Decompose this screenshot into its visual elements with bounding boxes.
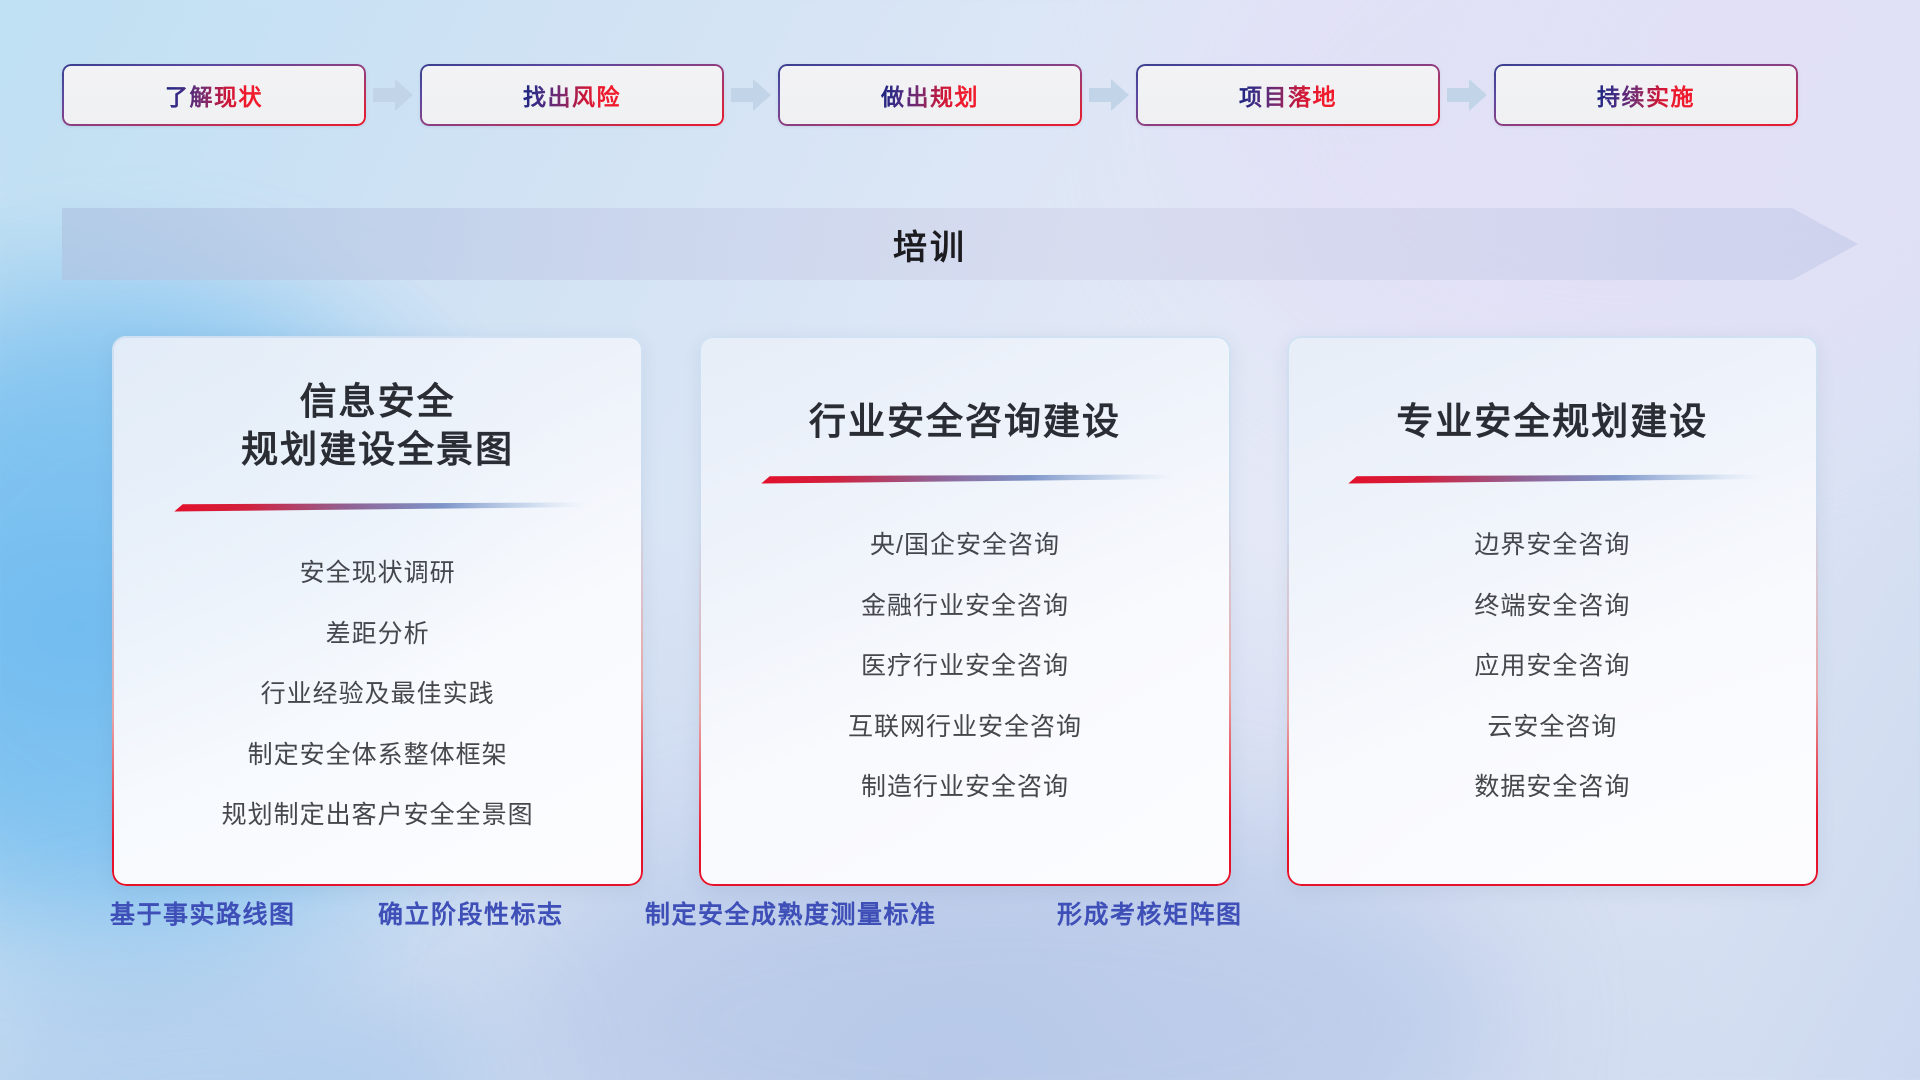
- arrow-right-icon: [1447, 79, 1487, 111]
- footer-caption-3: 制定安全成熟度测量标准: [645, 895, 937, 931]
- card-row: 信息安全 规划建设全景图安全现状调研差距分析行业经验及最佳实践制定安全体系整体框…: [112, 336, 1818, 886]
- card-title: 专业安全规划建设: [1396, 398, 1708, 446]
- card-title: 信息安全 规划建设全景图: [241, 378, 514, 474]
- step-arrow-3: [1082, 64, 1136, 126]
- card-item-list: 边界安全咨询终端安全咨询应用安全咨询云安全咨询数据安全咨询: [1474, 519, 1630, 814]
- process-step-1[interactable]: 了解现状: [62, 64, 366, 126]
- list-item: 央/国企安全咨询: [870, 519, 1060, 572]
- list-item: 制造行业安全咨询: [861, 761, 1069, 814]
- caption-row: 基于事实路线图确立阶段性标志制定安全成熟度测量标准形成考核矩阵图: [0, 895, 1920, 951]
- process-step-row: 了解现状找出风险做出规划项目落地持续实施: [62, 64, 1858, 126]
- process-step-2[interactable]: 找出风险: [420, 64, 724, 126]
- list-item: 安全现状调研: [300, 547, 456, 600]
- card-title: 行业安全咨询建设: [809, 398, 1121, 446]
- process-step-3[interactable]: 做出规划: [778, 64, 1082, 126]
- service-card-3[interactable]: 专业安全规划建设边界安全咨询终端安全咨询应用安全咨询云安全咨询数据安全咨询: [1287, 336, 1818, 886]
- training-band: 培训: [62, 208, 1858, 280]
- card-item-list: 安全现状调研差距分析行业经验及最佳实践制定安全体系整体框架规划制定出客户安全全景…: [222, 547, 534, 842]
- step-arrow-1: [366, 64, 420, 126]
- list-item: 行业经验及最佳实践: [261, 668, 495, 721]
- arrow-right-icon: [373, 79, 413, 111]
- list-item: 规划制定出客户安全全景图: [222, 789, 534, 842]
- list-item: 应用安全咨询: [1474, 640, 1630, 693]
- list-item: 金融行业安全咨询: [861, 580, 1069, 633]
- process-step-4[interactable]: 项目落地: [1136, 64, 1440, 126]
- service-card-1[interactable]: 信息安全 规划建设全景图安全现状调研差距分析行业经验及最佳实践制定安全体系整体框…: [112, 336, 643, 886]
- divider-gradient-bar: [168, 502, 588, 513]
- arrow-right-icon: [731, 79, 771, 111]
- footer-caption-4: 形成考核矩阵图: [1057, 895, 1243, 931]
- list-item: 医疗行业安全咨询: [861, 640, 1069, 693]
- card-divider: [1342, 474, 1762, 485]
- process-step-label: 持续实施: [1597, 78, 1695, 112]
- list-item: 制定安全体系整体框架: [248, 729, 508, 782]
- divider-gradient-bar: [755, 474, 1175, 485]
- arrow-right-icon: [1089, 79, 1129, 111]
- list-item: 差距分析: [326, 608, 430, 661]
- footer-caption-1: 基于事实路线图: [110, 895, 296, 931]
- list-item: 互联网行业安全咨询: [848, 701, 1082, 754]
- process-step-label: 做出规划: [881, 78, 979, 112]
- divider-gradient-bar: [1342, 474, 1762, 485]
- list-item: 数据安全咨询: [1474, 761, 1630, 814]
- process-step-5[interactable]: 持续实施: [1494, 64, 1798, 126]
- step-arrow-4: [1440, 64, 1494, 126]
- process-step-label: 项目落地: [1239, 78, 1337, 112]
- process-step-label: 找出风险: [523, 78, 621, 112]
- training-band-title: 培训: [62, 208, 1858, 280]
- step-arrow-2: [724, 64, 778, 126]
- list-item: 边界安全咨询: [1474, 519, 1630, 572]
- card-divider: [755, 474, 1175, 485]
- footer-caption-2: 确立阶段性标志: [378, 895, 564, 931]
- list-item: 云安全咨询: [1487, 701, 1617, 754]
- list-item: 终端安全咨询: [1474, 580, 1630, 633]
- service-card-2[interactable]: 行业安全咨询建设央/国企安全咨询金融行业安全咨询医疗行业安全咨询互联网行业安全咨…: [699, 336, 1230, 886]
- process-step-label: 了解现状: [165, 78, 263, 112]
- card-item-list: 央/国企安全咨询金融行业安全咨询医疗行业安全咨询互联网行业安全咨询制造行业安全咨…: [848, 519, 1082, 814]
- card-divider: [168, 502, 588, 513]
- infographic-stage: 了解现状找出风险做出规划项目落地持续实施 培训 信息安全 规划建设全景图安全现状…: [0, 0, 1920, 1080]
